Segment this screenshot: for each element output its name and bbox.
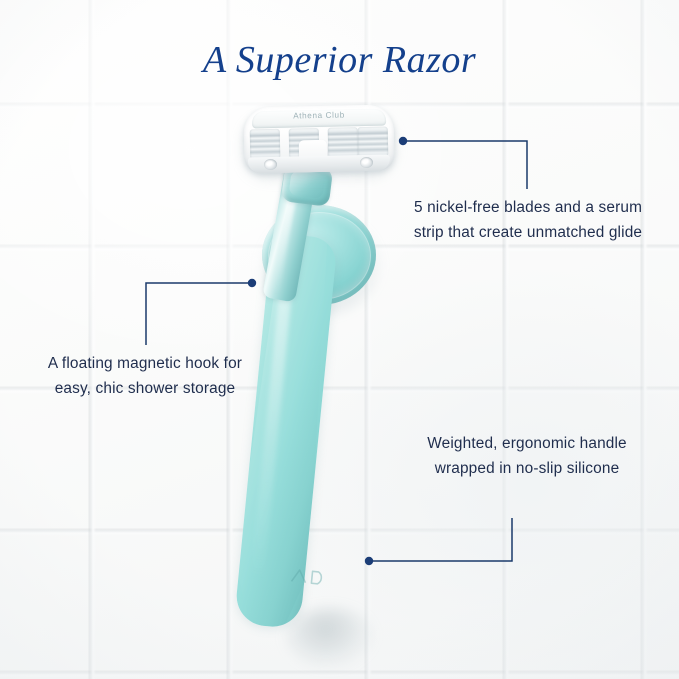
cartridge-mount-hole: [360, 157, 373, 168]
handle-drop-shadow: [286, 608, 374, 668]
blade-cell: [358, 127, 389, 158]
cartridge-guard-bar: [248, 155, 390, 174]
product-infographic: A Superior Razor Athena Club: [0, 0, 679, 679]
blade-divider: [281, 129, 289, 159]
callout-text-handle: Weighted, ergonomic handle wrapped in no…: [404, 432, 650, 482]
blade-cell: [250, 129, 281, 160]
callout-text-hook: A floating magnetic hook for easy, chic …: [34, 352, 256, 402]
blade-cell: [328, 127, 359, 158]
callout-text-blades: 5 nickel-free blades and a serum strip t…: [404, 196, 652, 246]
razor-product-image: Athena Club: [0, 0, 679, 679]
athena-club-monogram-icon: [287, 564, 331, 590]
cartridge-mount-hole: [264, 159, 277, 170]
